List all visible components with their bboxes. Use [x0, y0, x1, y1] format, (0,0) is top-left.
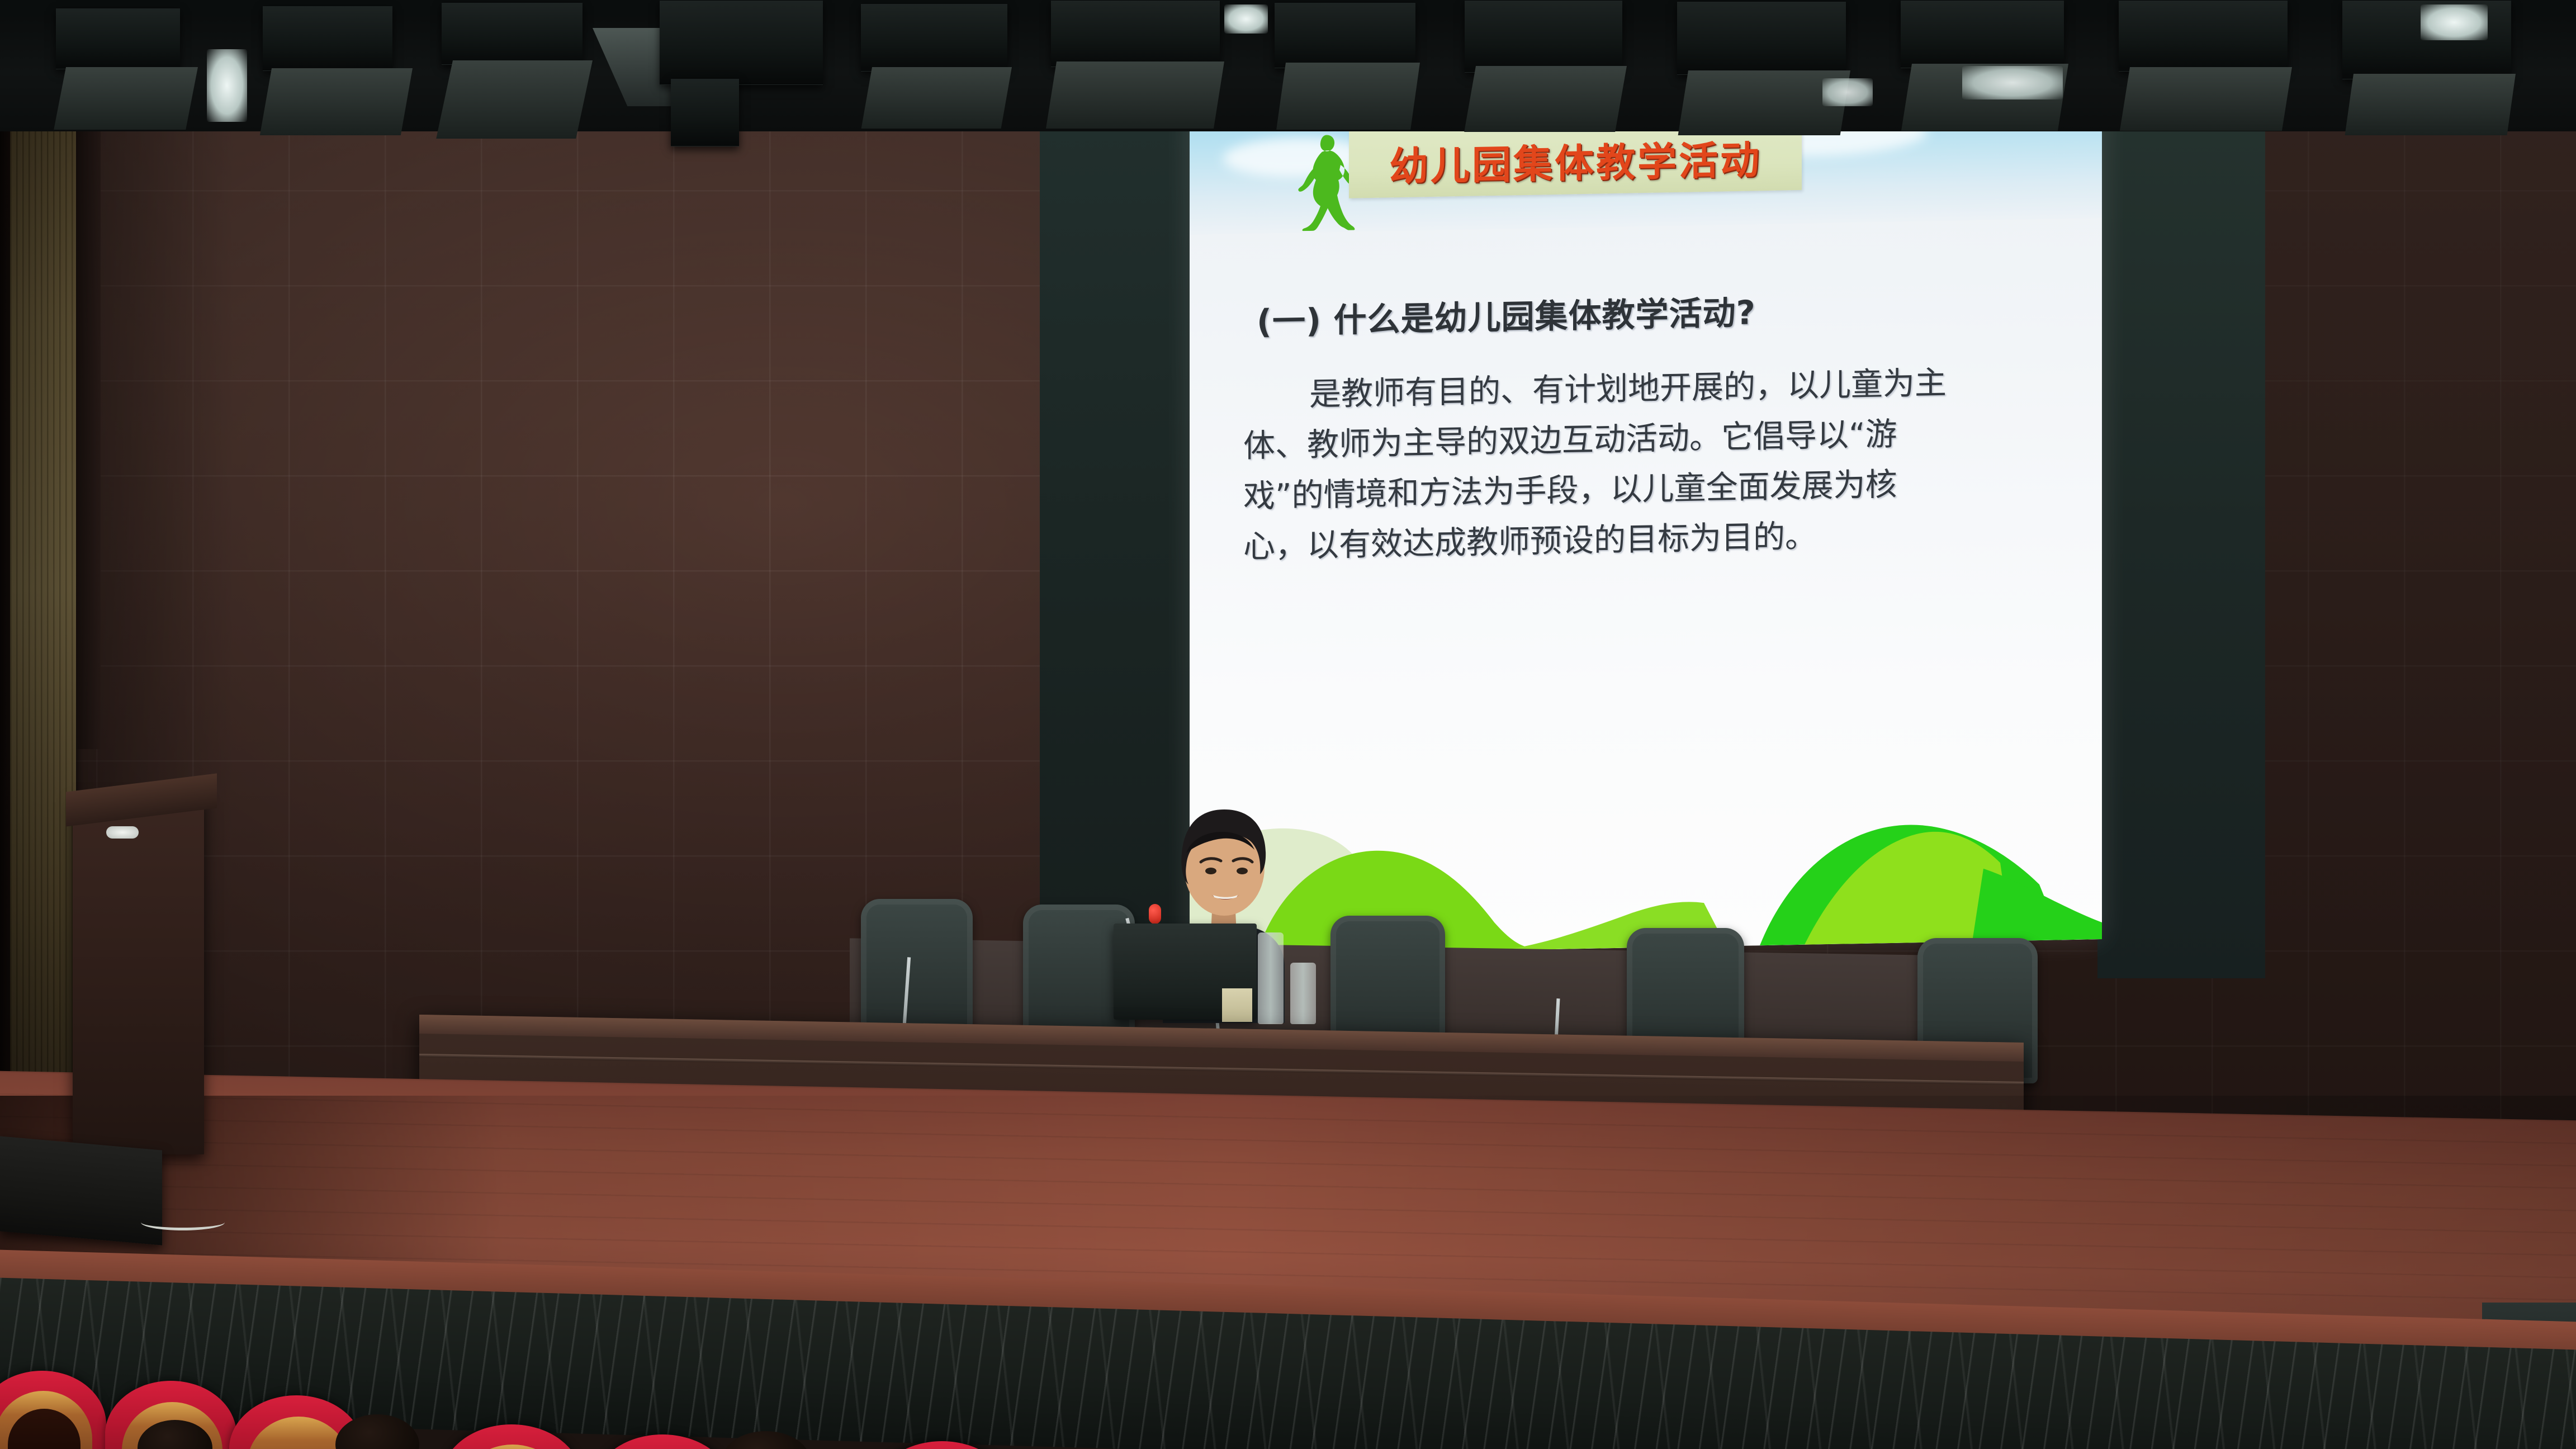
- water-bottle: [1258, 932, 1284, 1024]
- stage-light-fixture: [1465, 0, 1622, 73]
- wood-column: [10, 0, 76, 1135]
- barndoor-flap-icon: [1046, 61, 1224, 129]
- slide-body: 是教师有目的、有计划地开展的，以儿童为主 体、教师为主导的双边互动活动。它倡导以…: [1243, 356, 2076, 572]
- drinking-glass: [1290, 963, 1316, 1024]
- barndoor-flap-icon: [861, 67, 1012, 129]
- stage-light-fixture: [1275, 2, 1415, 68]
- stage-curtain-right: [2097, 84, 2265, 978]
- speaker-cable: [141, 1214, 225, 1230]
- projection-screen: 幼儿园集体教学活动 (一) 什么是幼儿园集体教学活动? 是教师有目的、有计划地开…: [1190, 89, 2102, 956]
- stage-light-yoke: [671, 78, 739, 146]
- stage-light-fixture: [1051, 0, 1220, 67]
- barndoor-flap-icon: [260, 68, 413, 135]
- barndoor-flap-icon: [54, 67, 198, 130]
- lamp-glow: [2421, 4, 2488, 40]
- stage-light-fixture: [263, 6, 392, 71]
- lectern[interactable]: [73, 797, 204, 1154]
- stage-scene: 幼儿园集体教学活动 (一) 什么是幼儿园集体教学活动? 是教师有目的、有计划地开…: [0, 0, 2576, 1449]
- stage-light-fixture: [660, 0, 823, 85]
- stage-light-fixture: [56, 8, 180, 69]
- table-upper-rail: [419, 1054, 2024, 1085]
- microphone-windscreen-icon: [1149, 904, 1161, 924]
- lamp-glow: [207, 49, 247, 122]
- barndoor-flap-icon: [2120, 67, 2292, 131]
- lamp-glow: [1224, 4, 1268, 34]
- barndoor-flap-icon: [1276, 63, 1420, 130]
- child-silhouette-icon: [1296, 132, 1357, 231]
- stage-light-fixture: [2119, 0, 2288, 72]
- lectern-badge: [106, 826, 139, 839]
- lighting-truss: [0, 0, 2576, 131]
- barndoor-flap-icon: [436, 60, 593, 139]
- slide-heading: (一) 什么是幼儿园集体教学活动?: [1257, 286, 1756, 342]
- barndoor-flap-icon: [1464, 66, 1627, 132]
- stage-monitor-speaker: [0, 1136, 162, 1245]
- chair[interactable]: [861, 899, 973, 1039]
- stage-light-fixture: [442, 2, 583, 65]
- paper-sheet: [1222, 988, 1252, 1022]
- slide-title-text: 幼儿园集体教学活动: [1389, 129, 1761, 192]
- stage-light-fixture: [1677, 1, 1846, 75]
- barndoor-flap-icon: [2345, 74, 2516, 135]
- lamp-gel-highlight: [1962, 66, 2063, 100]
- slide-canvas: 幼儿园集体教学活动 (一) 什么是幼儿园集体教学活动? 是教师有目的、有计划地开…: [1190, 89, 2102, 956]
- lamp-gel-highlight: [1822, 78, 1873, 106]
- stage-light-fixture: [1901, 0, 2064, 68]
- stage-light-fixture: [861, 3, 1007, 72]
